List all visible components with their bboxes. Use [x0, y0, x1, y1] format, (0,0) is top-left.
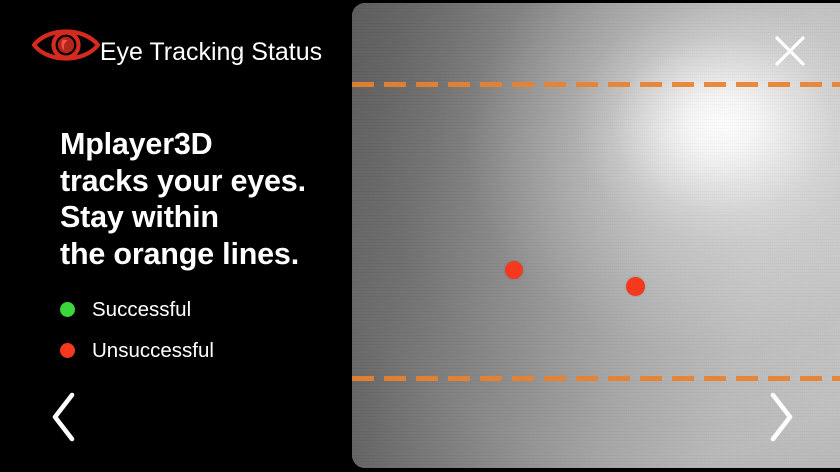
legend-label-unsuccessful: Unsuccessful	[92, 339, 214, 363]
guide-line-top	[352, 82, 840, 87]
status-dot-icon-unsuccessful	[60, 343, 75, 358]
headline-line-3: Stay within	[60, 199, 350, 236]
page-title: Mplayer3D tracks your eyes. Stay within …	[60, 126, 350, 272]
info-panel: Mplayer3D tracks your eyes. Stay within …	[0, 0, 352, 472]
headline-line-2: tracks your eyes.	[60, 163, 350, 200]
status-dot-icon-successful	[60, 302, 75, 317]
status-legend: Successful Unsuccessful	[60, 289, 340, 371]
chevron-right-icon	[766, 391, 796, 448]
close-icon	[773, 34, 807, 73]
legend-label-successful: Successful	[92, 298, 191, 322]
headline-line-1: Mplayer3D	[60, 126, 350, 163]
guide-line-bottom	[352, 376, 840, 381]
camera-panel-title: Eye Tracking Status	[0, 38, 488, 67]
close-button[interactable]	[770, 33, 810, 73]
prev-button[interactable]	[38, 385, 90, 453]
left-eye-marker	[505, 261, 523, 279]
next-button[interactable]	[755, 385, 807, 453]
chevron-left-icon	[49, 391, 79, 448]
right-eye-marker	[626, 277, 645, 296]
legend-item-unsuccessful: Unsuccessful	[60, 330, 340, 371]
eye-tracking-status-screen: Mplayer3D tracks your eyes. Stay within …	[0, 0, 840, 472]
legend-item-successful: Successful	[60, 289, 340, 330]
headline-line-4: the orange lines.	[60, 236, 350, 273]
